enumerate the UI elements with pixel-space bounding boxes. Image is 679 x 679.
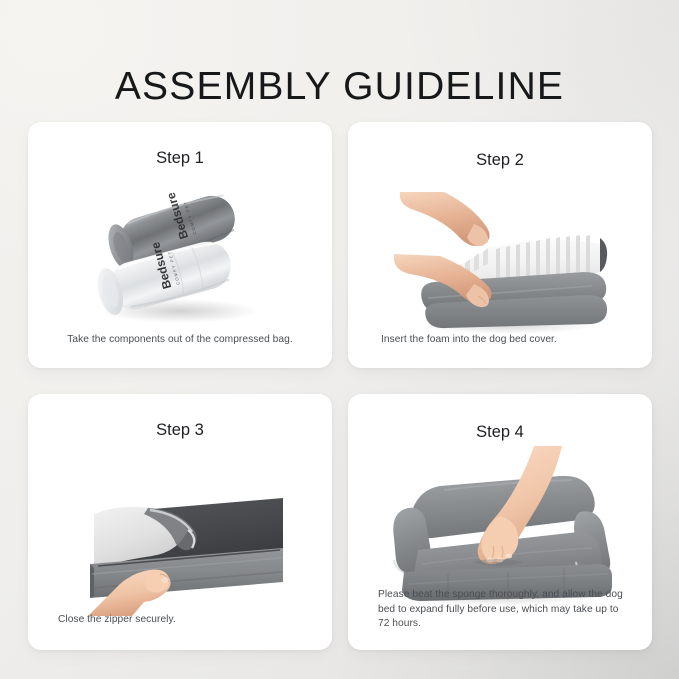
step-2-illustration: [348, 176, 652, 336]
step-1-illustration: Bedsure COMFY PET Bed: [28, 178, 332, 328]
step-4-title: Step 4: [348, 422, 652, 442]
step-2-caption: Insert the foam into the dog bed cover.: [381, 333, 634, 348]
step-card-1: Step 1: [28, 122, 332, 368]
step-card-4: Step 4: [348, 394, 652, 650]
hand-patting-dog-bed-icon: [348, 446, 652, 606]
step-card-2: Step 2: [348, 122, 652, 368]
page-title: ASSEMBLY GUIDELINE: [0, 64, 679, 110]
steps-grid: Step 1: [28, 122, 652, 650]
step-3-caption: Close the zipper securely.: [58, 613, 314, 628]
step-3-illustration: [28, 456, 332, 616]
hands-inserting-foam-icon: [348, 176, 652, 336]
step-1-title: Step 1: [28, 148, 332, 168]
hand-closing-zipper-icon: [28, 456, 332, 616]
step-2-title: Step 2: [348, 150, 652, 170]
step-card-3: Step 3: [28, 394, 332, 650]
two-compressed-rolls-icon: Bedsure COMFY PET Bed: [28, 178, 332, 328]
step-4-caption: Please beat the sponge thoroughly, and a…: [378, 588, 626, 632]
assembly-guideline-page: ASSEMBLY GUIDELINE Step 1: [0, 0, 679, 679]
step-1-caption: Take the components out of the compresse…: [42, 333, 318, 348]
step-4-illustration: [348, 446, 652, 606]
step-3-title: Step 3: [28, 420, 332, 440]
